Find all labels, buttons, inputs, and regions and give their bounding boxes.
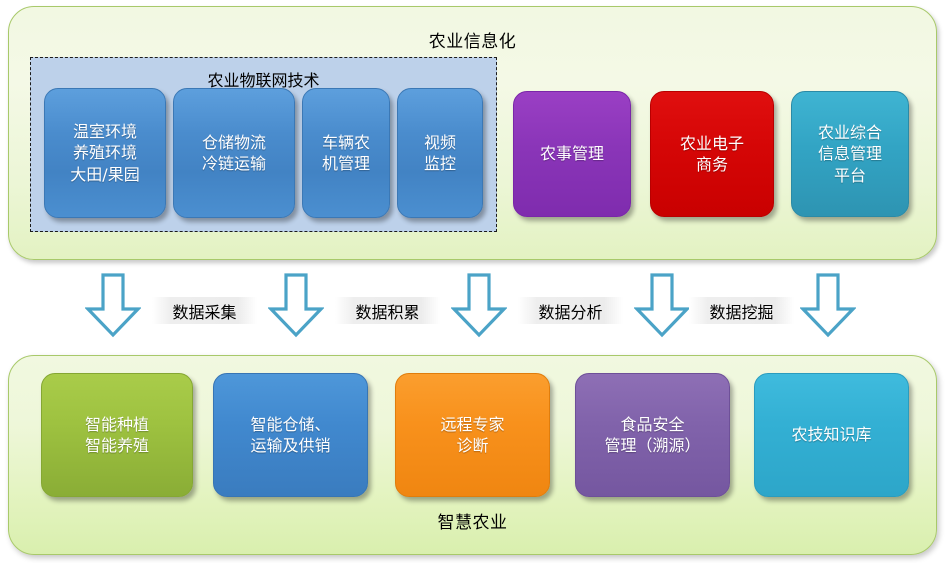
- box-agricultural-ecommerce[interactable]: 农业电子 商务: [650, 91, 774, 217]
- flow-arrow-2: [268, 272, 324, 338]
- diagram-canvas: 农业信息化 农业物联网技术 温室环境 养殖环境 大田/果园 仓储物流 冷链运输 …: [0, 0, 945, 563]
- iot-box-video-surveillance[interactable]: 视频 监控: [397, 88, 483, 218]
- box-remote-expert-diagnosis[interactable]: 远程专家 诊断: [395, 373, 550, 497]
- box-agritech-knowledge-base[interactable]: 农技知识库: [754, 373, 909, 497]
- flow-arrow-1: [85, 272, 141, 338]
- flow-arrow-4: [634, 272, 690, 338]
- box-agricultural-ecommerce-label: 农业电子 商务: [651, 133, 773, 175]
- iot-box-logistics[interactable]: 仓储物流 冷链运输: [173, 88, 295, 218]
- box-remote-expert-diagnosis-label: 远程专家 诊断: [396, 414, 549, 456]
- box-smart-planting-breeding-label: 智能种植 智能养殖: [42, 414, 192, 456]
- page-title: 农业信息化: [9, 27, 936, 52]
- box-food-safety-management[interactable]: 食品安全 管理（溯源）: [575, 373, 730, 497]
- flow-label-data-analysis: 数据分析: [518, 297, 623, 324]
- box-smart-planting-breeding[interactable]: 智能种植 智能养殖: [41, 373, 193, 497]
- iot-box-vehicle-machinery-label: 车辆农 机管理: [303, 132, 389, 174]
- flow-label-data-accumulation: 数据积累: [335, 297, 440, 324]
- box-smart-storage-transport[interactable]: 智能仓储、 运输及供销: [213, 373, 368, 497]
- box-food-safety-management-label: 食品安全 管理（溯源）: [576, 414, 729, 456]
- iot-box-environment[interactable]: 温室环境 养殖环境 大田/果园: [44, 88, 166, 218]
- iot-box-video-surveillance-label: 视频 监控: [398, 132, 482, 174]
- iot-box-logistics-label: 仓储物流 冷链运输: [174, 132, 294, 174]
- box-agritech-knowledge-base-label: 农技知识库: [755, 424, 908, 445]
- box-information-management-platform[interactable]: 农业综合 信息管理 平台: [791, 91, 909, 217]
- box-farming-management-label: 农事管理: [514, 143, 630, 164]
- flow-arrow-3: [451, 272, 507, 338]
- box-information-management-platform-label: 农业综合 信息管理 平台: [792, 122, 908, 185]
- box-smart-storage-transport-label: 智能仓储、 运输及供销: [214, 414, 367, 456]
- box-farming-management[interactable]: 农事管理: [513, 91, 631, 217]
- flow-label-data-collection: 数据采集: [152, 297, 257, 324]
- iot-box-vehicle-machinery[interactable]: 车辆农 机管理: [302, 88, 390, 218]
- flow-arrow-5: [800, 272, 856, 338]
- iot-box-environment-label: 温室环境 养殖环境 大田/果园: [45, 121, 165, 184]
- flow-label-data-mining: 数据挖掘: [689, 297, 794, 324]
- smart-agriculture-title: 智慧农业: [9, 508, 936, 533]
